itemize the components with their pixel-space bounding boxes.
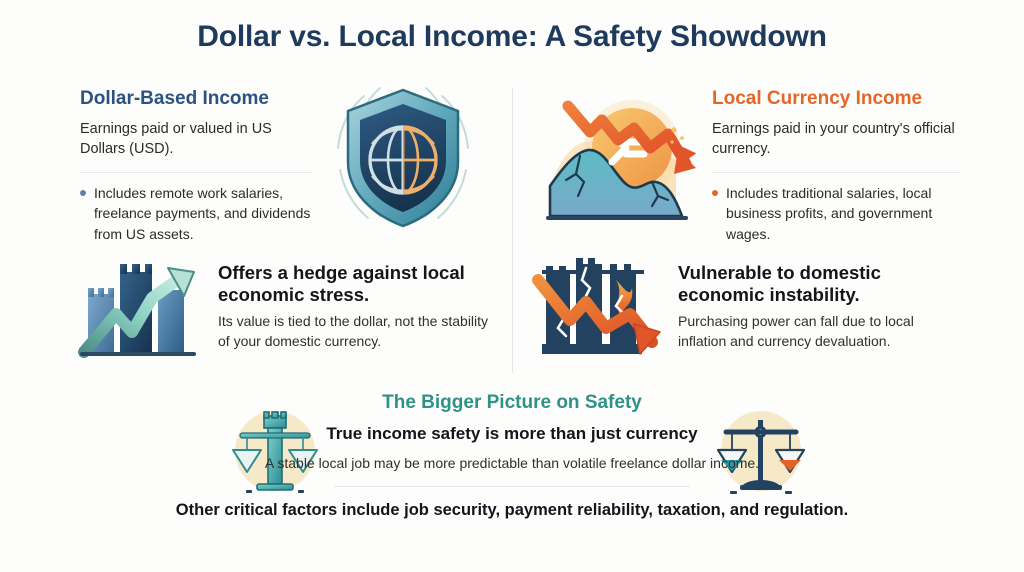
hedge-benefit-description: Its value is tied to the dollar, not the… [218,312,496,352]
bigger-picture-sub: A stable local job may be more predictab… [0,453,1024,473]
dollar-income-subtitle: Earnings paid or valued in US Dollars (U… [80,119,312,160]
shield-globe-icon [318,72,488,242]
vulnerability-body: Vulnerable to domestic economic instabil… [678,258,948,352]
cracked-mountain-declining-arrow-icon [534,82,706,234]
dollar-income-bullet-text: Includes remote work salaries, freelance… [94,183,312,244]
center-vertical-divider [512,88,513,373]
vulnerability-row: Vulnerable to domestic economic instabil… [528,258,948,367]
hedge-benefit-title: Offers a hedge against local economic st… [218,262,496,305]
dollar-income-bullet: Includes remote work salaries, freelance… [80,183,312,244]
hedge-benefit-row: Offers a hedge against local economic st… [76,258,496,367]
dollar-income-block: Dollar-Based Income Earnings paid or val… [80,88,312,244]
bullet-dot-icon [80,190,86,196]
local-currency-income-block: Local Currency Income Earnings paid in y… [712,88,960,244]
local-currency-heading: Local Currency Income [712,88,960,110]
vulnerability-description: Purchasing power can fall due to local i… [678,312,948,352]
cracked-castle-falling-arrow-icon [528,258,664,367]
dollar-income-heading: Dollar-Based Income [80,88,312,110]
bigger-picture-footer: Other critical factors include job secur… [0,499,1024,522]
castle-rising-chart-icon [76,258,204,367]
bullet-dot-icon [712,190,718,196]
infographic-canvas: Dollar vs. Local Income: A Safety Showdo… [0,0,1024,572]
bigger-picture-lead: True income safety is more than just cur… [0,424,1024,444]
local-currency-divider [712,172,960,173]
local-currency-bullet-text: Includes traditional salaries, local bus… [726,183,960,244]
bigger-picture-block: The Bigger Picture on Safety True income… [0,392,1024,522]
hedge-benefit-body: Offers a hedge against local economic st… [218,258,496,352]
vulnerability-title: Vulnerable to domestic economic instabil… [678,262,948,305]
bottom-divider [334,486,690,487]
dollar-income-divider [80,172,312,173]
bigger-picture-heading: The Bigger Picture on Safety [0,392,1024,414]
local-currency-subtitle: Earnings paid in your country's official… [712,119,960,160]
page-title: Dollar vs. Local Income: A Safety Showdo… [0,20,1024,54]
local-currency-bullet: Includes traditional salaries, local bus… [712,183,960,244]
